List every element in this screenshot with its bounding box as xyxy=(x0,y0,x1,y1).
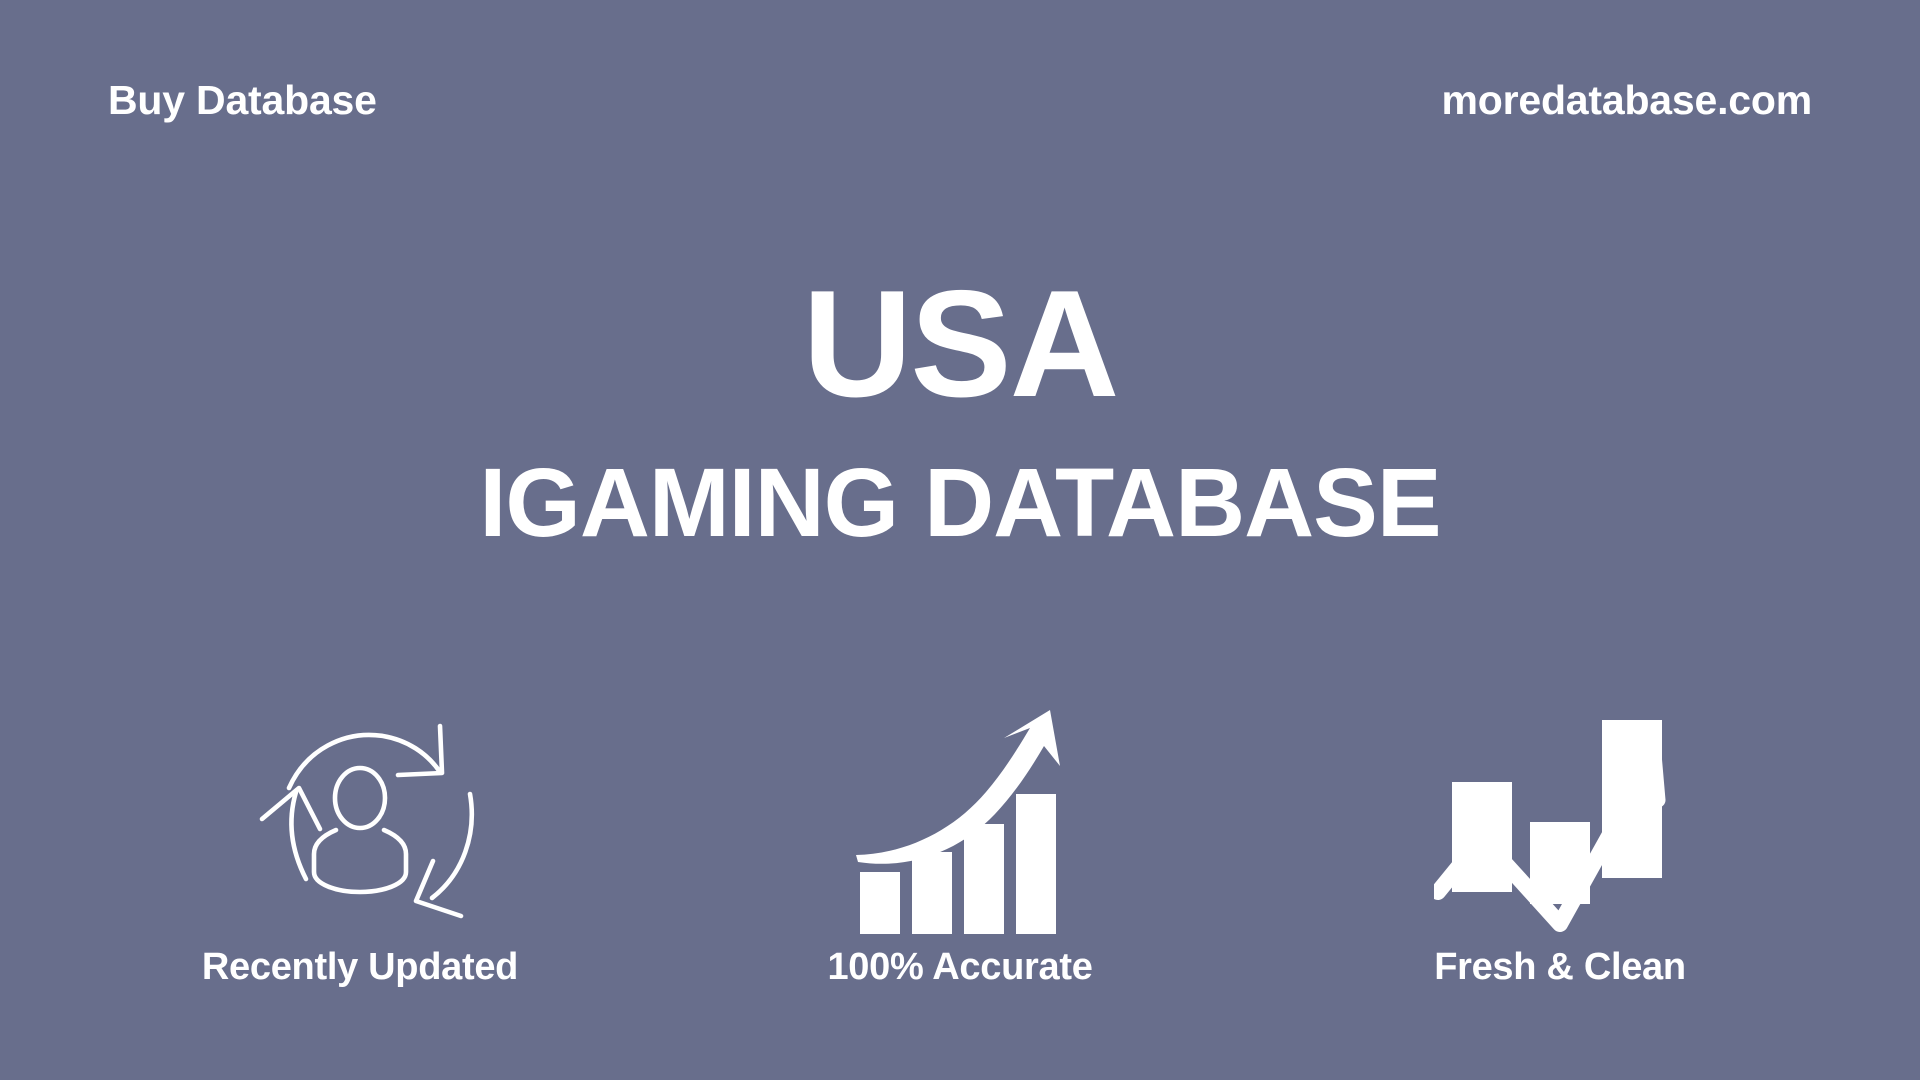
feature-label-fresh-clean: Fresh & Clean xyxy=(1434,948,1686,986)
feature-label-recently-updated: Recently Updated xyxy=(202,948,518,986)
hero-section: USA IGAMING DATABASE xyxy=(0,268,1920,551)
bar-chart-zigzag-arrow-icon xyxy=(1434,672,1686,934)
feature-list: Recently Updated 100% Accurate xyxy=(0,672,1920,1080)
brand-left-label: Buy Database xyxy=(108,80,377,121)
feature-label-100-accurate: 100% Accurate xyxy=(827,948,1092,986)
page-subtitle: IGAMING DATABASE xyxy=(0,454,1920,551)
page-title: USA xyxy=(0,268,1920,420)
feature-item-recently-updated: Recently Updated xyxy=(110,672,610,986)
feature-item-fresh-clean: Fresh & Clean xyxy=(1310,672,1810,986)
page-header: Buy Database moredatabase.com xyxy=(0,0,1920,200)
growth-bar-chart-arrow-icon xyxy=(854,672,1066,934)
person-refresh-cycle-icon xyxy=(244,672,476,934)
site-domain-label: moredatabase.com xyxy=(1441,80,1812,121)
feature-item-100-accurate: 100% Accurate xyxy=(710,672,1210,986)
